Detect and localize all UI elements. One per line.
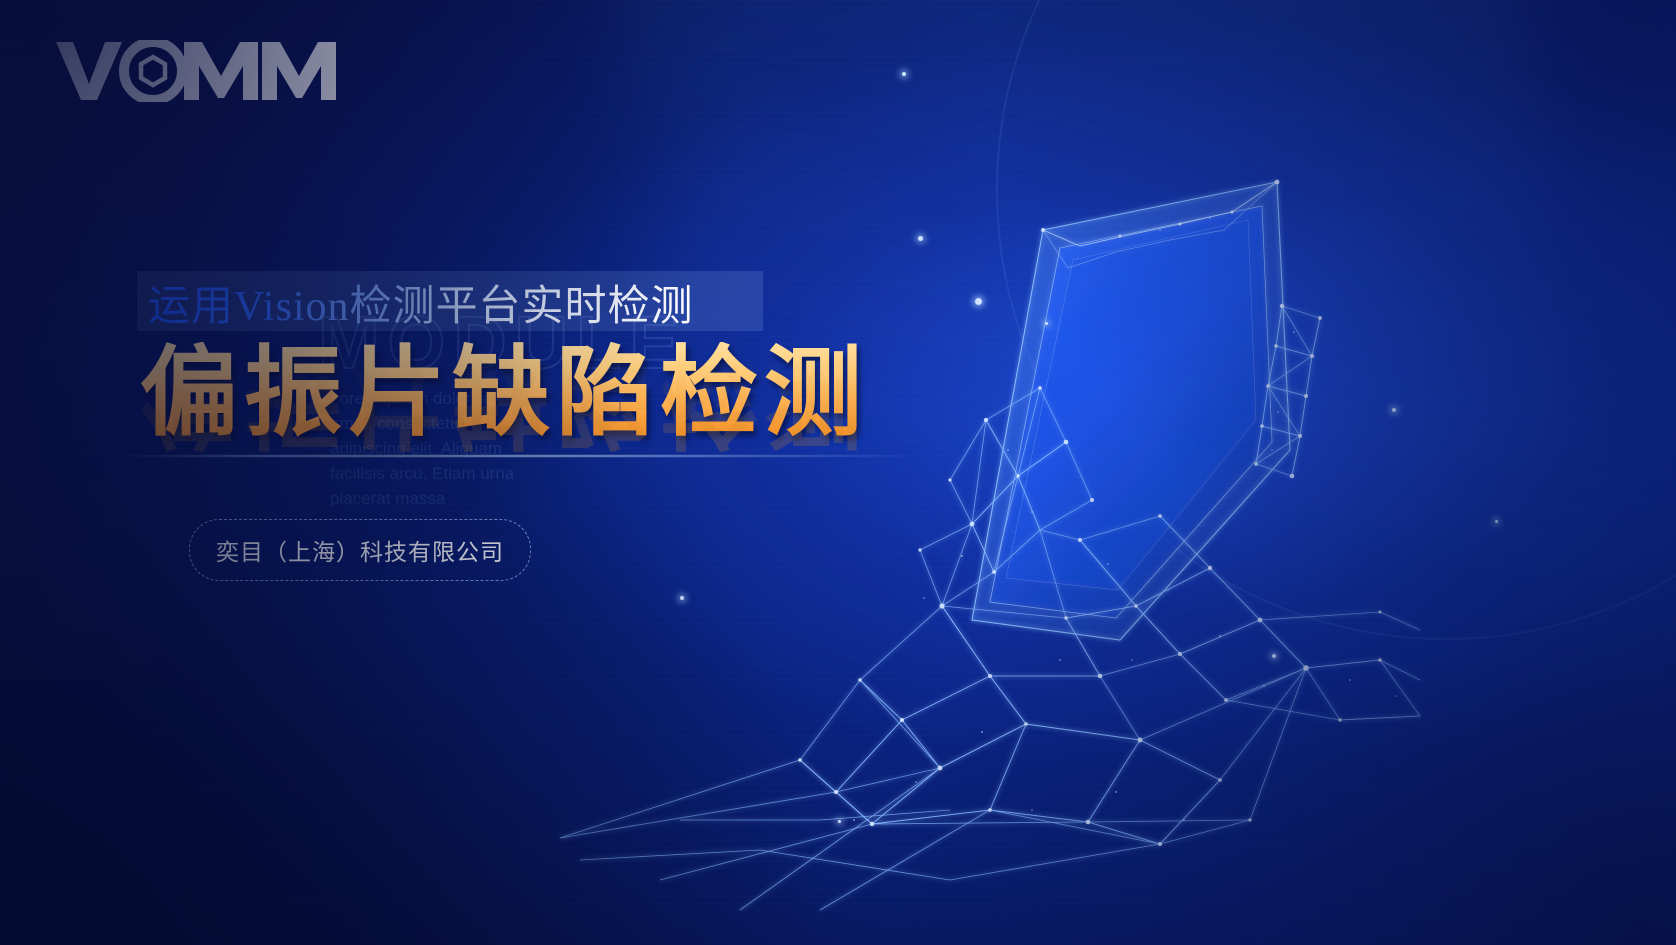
hero-title: 偏振片缺陷检测 <box>140 342 868 442</box>
hero-text-block: MODULE Lorem ipsum dolor sit amet, conse… <box>0 0 1676 945</box>
company-name-badge: 奕目（上海）科技有限公司 <box>189 519 531 581</box>
reflection-floor-line <box>120 455 920 457</box>
hero-title-wrap: 偏振片缺陷检测 <box>140 342 868 442</box>
hero-subtitle: 运用Vision检测平台实时检测 <box>148 272 694 333</box>
slide-canvas: MODULE Lorem ipsum dolor sit amet, conse… <box>0 0 1676 945</box>
